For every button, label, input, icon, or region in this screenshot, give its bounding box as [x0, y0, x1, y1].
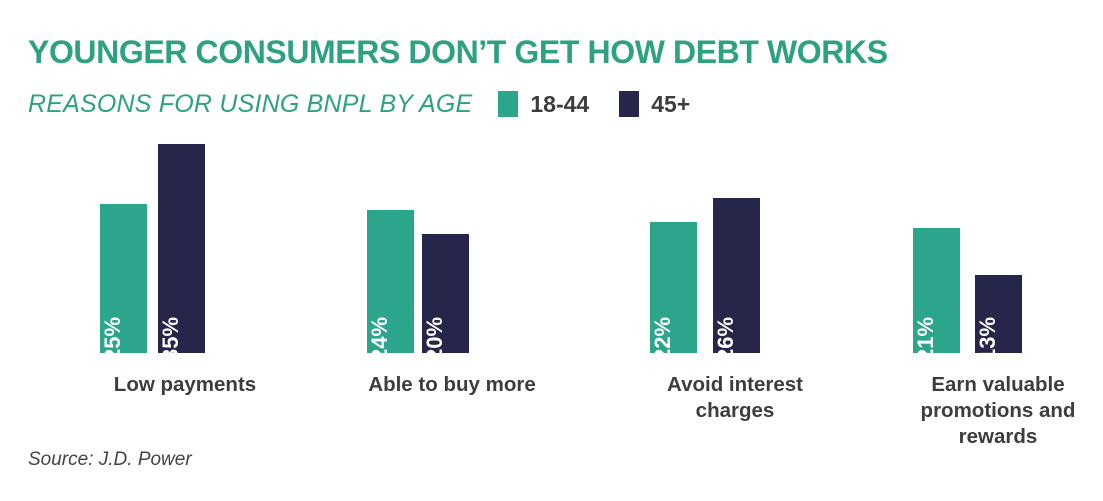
bar-value-label: 24% [369, 317, 391, 353]
category-label: Low payments [60, 372, 310, 398]
bar-value-label: 35% [160, 317, 182, 353]
bar-series-18-44[interactable]: 22% [650, 222, 697, 353]
bar-series-18-44[interactable]: 24% [367, 210, 414, 353]
source-note: Source: J.D. Power [28, 450, 192, 469]
bar-series-45-plus[interactable]: 20% [422, 234, 469, 353]
bar-value-label: 25% [102, 317, 124, 353]
bar-series-45-plus[interactable]: 26% [713, 198, 760, 353]
category-label: Avoid interestcharges [610, 372, 860, 424]
category-label: Able to buy more [327, 372, 577, 398]
chart-root: YOUNGER CONSUMERS DON’T GET HOW DEBT WOR… [0, 0, 1103, 501]
bar-value-label: 22% [652, 317, 674, 353]
category-label: Earn valuablepromotions andrewards [873, 372, 1103, 451]
bar-value-label: 26% [715, 317, 737, 353]
bar-series-45-plus[interactable]: 13% [975, 275, 1022, 353]
bar-value-label: 21% [915, 317, 937, 353]
bar-series-18-44[interactable]: 21% [913, 228, 960, 353]
plot-area: 25%35%Low payments24%20%Able to buy more… [0, 0, 1103, 501]
bar-series-45-plus[interactable]: 35% [158, 144, 205, 353]
bar-value-label: 20% [424, 317, 446, 353]
bar-value-label: 13% [977, 317, 999, 353]
bar-series-18-44[interactable]: 25% [100, 204, 147, 353]
